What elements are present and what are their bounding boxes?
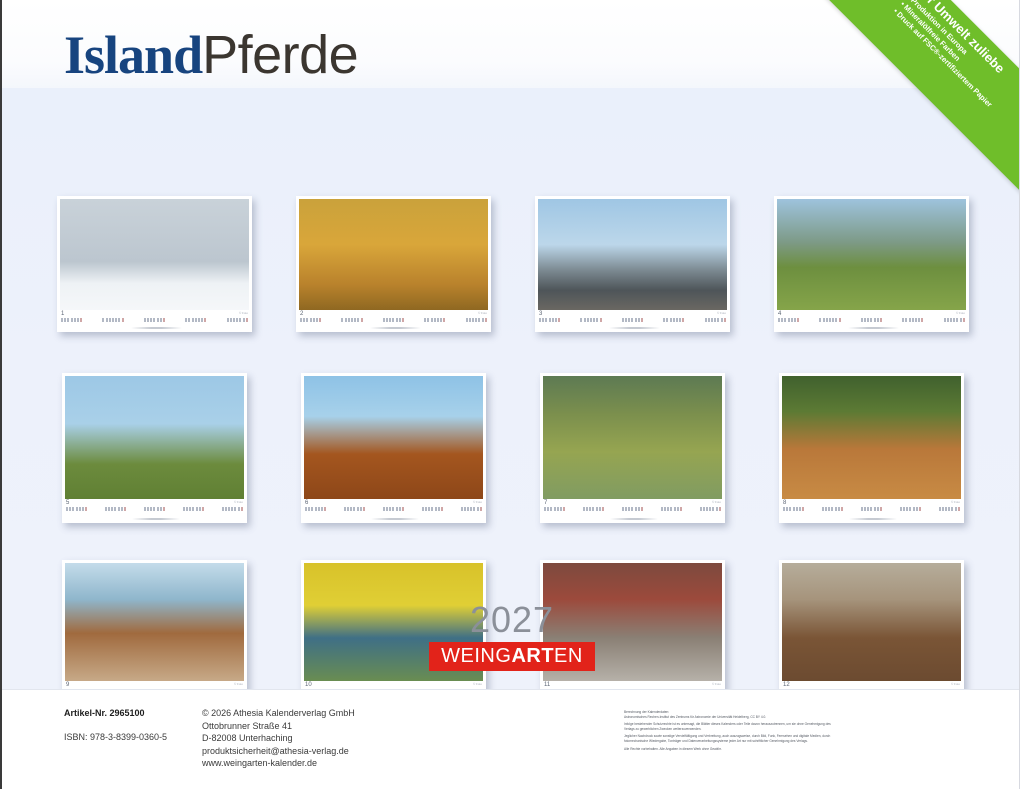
day-cell — [64, 318, 66, 322]
year-and-logo: 2027 WEINGARTEN — [2, 601, 1020, 671]
day-cell — [544, 507, 546, 511]
day-cell — [584, 318, 586, 322]
day-cell — [61, 318, 63, 322]
day-cell — [826, 318, 828, 322]
strip-footer-rule — [132, 518, 180, 520]
month-number: 4 — [778, 311, 781, 317]
day-cell — [157, 318, 159, 322]
day-cell — [682, 318, 684, 322]
day-cell — [945, 507, 947, 511]
day-cell — [880, 507, 882, 511]
day-cell — [602, 507, 604, 511]
day-cell — [353, 507, 355, 511]
day-cell — [661, 507, 663, 511]
day-cell — [461, 507, 463, 511]
day-cell — [835, 507, 837, 511]
strip-footer-rule — [610, 518, 658, 520]
day-cell — [472, 318, 474, 322]
day-cell — [434, 318, 436, 322]
photo-credit: © Foto — [956, 311, 965, 315]
photo-credit: © Foto — [717, 311, 726, 315]
week-group — [544, 507, 566, 511]
day-cell — [482, 318, 484, 322]
strip-footer-rule — [371, 518, 419, 520]
day-cell — [147, 318, 149, 322]
date-strip: 1© Foto — [57, 310, 252, 332]
day-cell — [823, 318, 825, 322]
day-cell — [631, 318, 633, 322]
legal-paragraph-2: Infolge bestehender Schutzrechte ist es … — [624, 722, 840, 731]
day-cell — [431, 507, 433, 511]
day-cell — [784, 318, 786, 322]
day-cell — [114, 507, 116, 511]
date-strip: 4© Foto — [774, 310, 969, 332]
legal-paragraph-3: Jeglicher Nachdruck sowie sonstige Vervi… — [624, 734, 840, 743]
day-cell — [477, 507, 479, 511]
day-cell — [583, 507, 585, 511]
day-cell — [900, 507, 902, 511]
day-cell — [705, 318, 707, 322]
day-cell — [942, 507, 944, 511]
legal-heading: Berechnung der Kalenderdaten: — [624, 710, 669, 714]
day-cell — [389, 507, 391, 511]
day-cell — [625, 318, 627, 322]
day-cell — [241, 507, 243, 511]
month-thumbnail-2[interactable]: 2© Foto — [296, 196, 491, 332]
day-cell — [596, 318, 598, 322]
day-cell — [724, 318, 726, 322]
month-number: 12 — [783, 682, 790, 688]
day-cell — [877, 507, 879, 511]
day-cell — [592, 507, 594, 511]
day-cell — [422, 507, 424, 511]
day-cell — [563, 507, 565, 511]
day-cell — [554, 507, 556, 511]
day-cell — [557, 507, 559, 511]
publisher-line: Ottobrunner Straße 41 — [202, 720, 355, 733]
day-cell — [547, 507, 549, 511]
day-cell — [231, 507, 233, 511]
day-cell — [160, 318, 162, 322]
month-thumbnail-4[interactable]: 4© Foto — [774, 196, 969, 332]
day-cell — [667, 507, 669, 511]
day-cell — [428, 507, 430, 511]
week-group — [661, 507, 683, 511]
day-cell — [552, 318, 554, 322]
calendar-year: 2027 — [2, 601, 1020, 639]
day-cell — [485, 318, 487, 322]
photo-credit: © Foto — [712, 500, 721, 504]
day-cell — [825, 507, 827, 511]
day-cell — [838, 507, 840, 511]
day-cell — [80, 318, 82, 322]
day-cell — [475, 318, 477, 322]
day-cell — [310, 318, 312, 322]
day-cell — [189, 507, 191, 511]
day-cell — [663, 318, 665, 322]
day-cell — [185, 318, 187, 322]
week-group — [424, 318, 446, 322]
photo-credit: © Foto — [473, 500, 482, 504]
date-strip: 2© Foto — [296, 310, 491, 332]
day-cell — [311, 507, 313, 511]
day-cell — [902, 318, 904, 322]
week-group — [227, 318, 249, 322]
day-cell — [586, 507, 588, 511]
day-cell — [357, 318, 359, 322]
month-number: 8 — [783, 500, 786, 506]
day-cell — [670, 318, 672, 322]
day-cell — [918, 318, 920, 322]
photo-credit: © Foto — [239, 311, 248, 315]
day-cell — [383, 507, 385, 511]
day-cell — [796, 507, 798, 511]
publisher-line: produktsicherheit@athesia-verlag.de — [202, 745, 355, 758]
day-cell — [963, 318, 965, 322]
day-cell — [319, 318, 321, 322]
week-group — [102, 318, 124, 322]
day-cell — [344, 507, 346, 511]
day-cell — [303, 318, 305, 322]
month-photo — [777, 199, 966, 313]
day-cell — [921, 318, 923, 322]
day-cell — [599, 507, 601, 511]
day-cell — [424, 318, 426, 322]
day-cell — [198, 318, 200, 322]
day-cell — [243, 318, 245, 322]
day-cell — [674, 507, 676, 511]
legal-source: Astronomisches Rechen-Institut des Zentr… — [624, 715, 766, 719]
week-group — [383, 507, 405, 511]
day-cell — [478, 318, 480, 322]
day-cell — [77, 318, 79, 322]
day-cell — [389, 318, 391, 322]
day-cell — [392, 318, 394, 322]
day-cell — [781, 318, 783, 322]
day-cell — [587, 318, 589, 322]
day-cell — [831, 507, 833, 511]
day-cell — [638, 318, 640, 322]
article-number: Artikel-Nr. 2965100 — [64, 708, 145, 718]
day-cell — [188, 318, 190, 322]
day-cell — [153, 507, 155, 511]
day-cell — [204, 318, 206, 322]
day-cell — [440, 318, 442, 322]
week-group — [539, 318, 561, 322]
day-cell — [944, 318, 946, 322]
day-cell — [399, 507, 401, 511]
day-cell — [67, 318, 69, 322]
day-cell — [915, 318, 917, 322]
day-cell — [905, 318, 907, 322]
day-cell — [874, 507, 876, 511]
day-cell — [350, 507, 352, 511]
day-cell — [778, 318, 780, 322]
day-cell — [947, 318, 949, 322]
day-cell — [958, 507, 960, 511]
day-cell — [664, 507, 666, 511]
day-cell — [864, 318, 866, 322]
day-cell — [706, 507, 708, 511]
day-cell — [402, 507, 404, 511]
week-group — [344, 507, 366, 511]
week-group — [341, 318, 363, 322]
month-photo — [60, 199, 249, 313]
day-cell — [819, 318, 821, 322]
day-cell — [711, 318, 713, 322]
day-cell — [427, 318, 429, 322]
date-strip-days — [300, 318, 488, 322]
day-cell — [347, 507, 349, 511]
week-group — [939, 507, 961, 511]
day-cell — [912, 318, 914, 322]
month-thumbnail-1[interactable]: 1© Foto — [57, 196, 252, 332]
day-cell — [354, 318, 356, 322]
week-group — [583, 507, 605, 511]
publisher-line: www.weingarten-kalender.de — [202, 757, 355, 770]
day-cell — [822, 507, 824, 511]
day-cell — [318, 507, 320, 511]
day-cell — [239, 318, 241, 322]
day-cell — [192, 507, 194, 511]
day-cell — [877, 318, 879, 322]
logo-text-after: EN — [554, 645, 583, 667]
month-number: 5 — [66, 500, 69, 506]
day-cell — [717, 318, 719, 322]
day-cell — [864, 507, 866, 511]
day-cell — [147, 507, 149, 511]
day-cell — [948, 507, 950, 511]
logo-text-accent: ART — [511, 645, 554, 667]
week-group — [185, 318, 207, 322]
day-cell — [590, 318, 592, 322]
month-thumbnail-3[interactable]: 3© Foto — [535, 196, 730, 332]
month-photo — [538, 199, 727, 313]
day-cell — [121, 507, 123, 511]
day-cell — [225, 507, 227, 511]
month-thumbnail-6[interactable]: 6© Foto — [301, 373, 486, 523]
day-cell — [909, 318, 911, 322]
day-cell — [363, 507, 365, 511]
week-group — [144, 318, 166, 322]
day-cell — [960, 318, 962, 322]
day-cell — [435, 507, 437, 511]
week-group — [663, 318, 685, 322]
day-cell — [470, 507, 472, 511]
day-cell — [700, 507, 702, 511]
day-cell — [361, 318, 363, 322]
day-cell — [708, 318, 710, 322]
day-cell — [383, 318, 385, 322]
day-cell — [150, 507, 152, 511]
day-cell — [236, 318, 238, 322]
month-photo — [304, 376, 483, 502]
day-cell — [386, 507, 388, 511]
day-cell — [622, 507, 624, 511]
week-group — [61, 318, 83, 322]
day-cell — [793, 507, 795, 511]
day-cell — [386, 318, 388, 322]
day-cell — [186, 507, 188, 511]
day-cell — [802, 507, 804, 511]
date-strip-days — [305, 507, 483, 511]
month-thumbnail-8[interactable]: 8© Foto — [779, 373, 964, 523]
day-cell — [192, 318, 194, 322]
day-cell — [939, 507, 941, 511]
date-strip-days — [539, 318, 727, 322]
day-cell — [909, 507, 911, 511]
day-cell — [641, 318, 643, 322]
day-cell — [82, 507, 84, 511]
day-cell — [916, 507, 918, 511]
day-cell — [124, 507, 126, 511]
week-group — [902, 318, 924, 322]
day-cell — [437, 318, 439, 322]
page-title: IslandPferde — [64, 26, 358, 84]
day-cell — [555, 318, 557, 322]
publisher-line: © 2026 Athesia Kalenderverlag GmbH — [202, 707, 355, 720]
strip-footer-rule — [370, 327, 421, 329]
day-cell — [867, 318, 869, 322]
day-cell — [105, 507, 107, 511]
day-cell — [69, 507, 71, 511]
day-cell — [306, 318, 308, 322]
day-cell — [106, 318, 108, 322]
day-cell — [341, 318, 343, 322]
week-group — [778, 318, 800, 322]
day-cell — [305, 507, 307, 511]
month-photo — [65, 376, 244, 502]
day-cell — [628, 318, 630, 322]
photo-credit: © Foto — [951, 500, 960, 504]
month-number: 9 — [66, 682, 69, 688]
day-cell — [313, 318, 315, 322]
day-cell — [832, 318, 834, 322]
day-cell — [144, 507, 146, 511]
day-cell — [348, 318, 350, 322]
day-cell — [913, 507, 915, 511]
day-cell — [396, 318, 398, 322]
day-cell — [870, 507, 872, 511]
day-cell — [835, 318, 837, 322]
month-thumbnail-5[interactable]: 5© Foto — [62, 373, 247, 523]
isbn: ISBN: 978-3-8399-0360-5 — [64, 732, 167, 742]
day-cell — [545, 318, 547, 322]
day-cell — [870, 318, 872, 322]
week-group — [144, 507, 166, 511]
day-cell — [228, 507, 230, 511]
day-cell — [441, 507, 443, 511]
day-cell — [956, 318, 958, 322]
day-cell — [542, 318, 544, 322]
day-cell — [466, 318, 468, 322]
day-cell — [903, 507, 905, 511]
day-cell — [230, 318, 232, 322]
date-strip-days — [778, 318, 966, 322]
day-cell — [183, 507, 185, 511]
day-cell — [593, 318, 595, 322]
day-cell — [721, 318, 723, 322]
day-cell — [789, 507, 791, 511]
day-cell — [558, 318, 560, 322]
day-cell — [676, 318, 678, 322]
day-cell — [783, 507, 785, 511]
month-thumbnail-7[interactable]: 7© Foto — [540, 373, 725, 523]
photo-credit: © Foto — [234, 682, 243, 686]
day-cell — [680, 507, 682, 511]
photo-credit: © Foto — [473, 682, 482, 686]
day-cell — [108, 507, 110, 511]
legal-text: Berechnung der Kalenderdaten: Astronomis… — [624, 710, 840, 754]
day-cell — [399, 318, 401, 322]
day-cell — [641, 507, 643, 511]
month-number: 1 — [61, 311, 64, 317]
day-cell — [202, 507, 204, 511]
date-strip: 6© Foto — [301, 499, 486, 523]
month-photo — [299, 199, 488, 313]
week-group — [580, 318, 602, 322]
photo-credit: © Foto — [234, 500, 243, 504]
week-group — [861, 318, 883, 322]
day-cell — [85, 507, 87, 511]
day-cell — [222, 507, 224, 511]
week-group — [622, 507, 644, 511]
day-cell — [539, 318, 541, 322]
day-cell — [357, 507, 359, 511]
week-group — [700, 507, 722, 511]
day-cell — [841, 507, 843, 511]
day-cell — [635, 318, 637, 322]
day-cell — [799, 507, 801, 511]
page-footer: Artikel-Nr. 2965100 ISBN: 978-3-8399-036… — [2, 689, 1020, 789]
day-cell — [828, 507, 830, 511]
day-cell — [467, 507, 469, 511]
day-cell — [953, 318, 955, 322]
week-group — [383, 318, 405, 322]
day-cell — [72, 507, 74, 511]
week-group — [822, 507, 844, 511]
day-cell — [673, 318, 675, 322]
weingarten-logo: WEINGARTEN — [429, 642, 595, 671]
day-cell — [951, 507, 953, 511]
publisher-address: © 2026 Athesia Kalenderverlag GmbHOttobr… — [202, 707, 355, 770]
day-cell — [66, 507, 68, 511]
day-cell — [160, 507, 162, 511]
day-cell — [480, 507, 482, 511]
date-strip-days — [783, 507, 961, 511]
day-cell — [839, 318, 841, 322]
day-cell — [345, 318, 347, 322]
day-cell — [351, 318, 353, 322]
day-cell — [238, 507, 240, 511]
day-cell — [315, 507, 317, 511]
day-cell — [677, 507, 679, 511]
day-cell — [580, 318, 582, 322]
logo-text-before: WEING — [441, 645, 511, 667]
day-cell — [195, 318, 197, 322]
day-cell — [791, 318, 793, 322]
day-cell — [596, 507, 598, 511]
day-cell — [628, 507, 630, 511]
day-cell — [234, 507, 236, 511]
day-cell — [679, 318, 681, 322]
month-number: 3 — [539, 311, 542, 317]
day-cell — [788, 318, 790, 322]
week-group — [466, 318, 488, 322]
week-group — [222, 507, 244, 511]
day-cell — [438, 507, 440, 511]
title-part-island: Island — [64, 25, 202, 85]
